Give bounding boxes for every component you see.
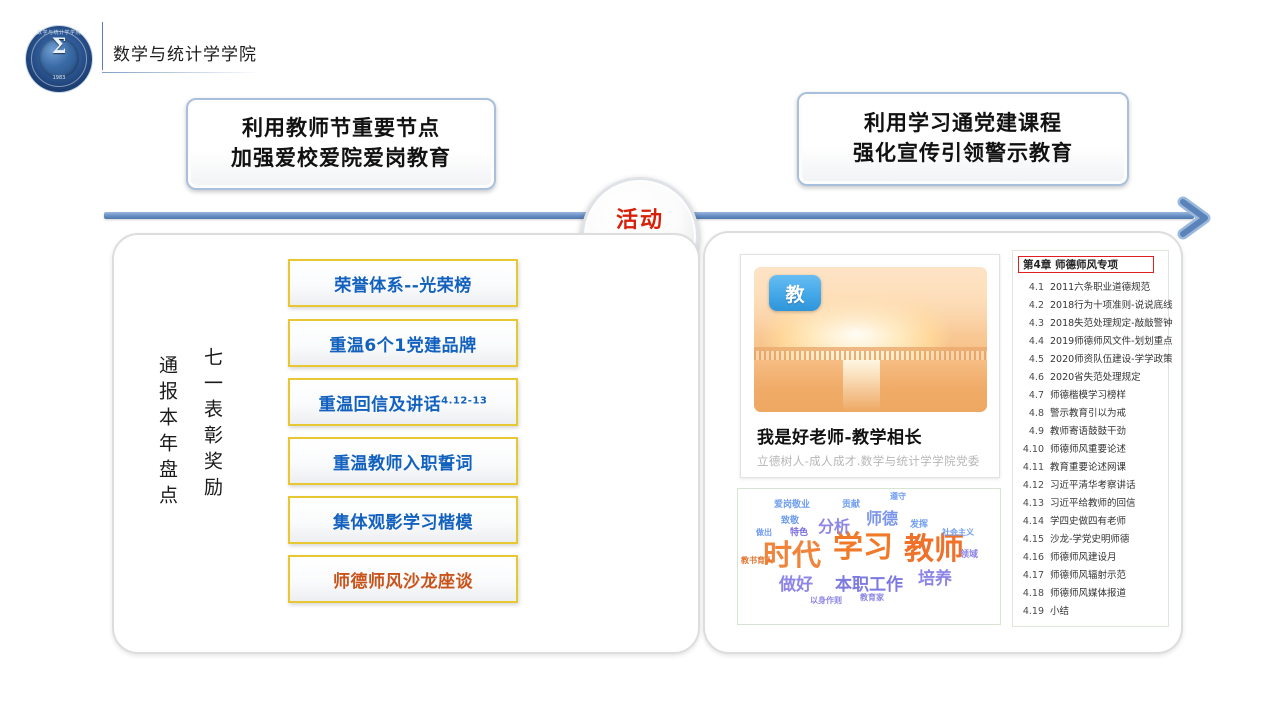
word-cloud-term: 特色 [790, 529, 808, 538]
left-item-box-3[interactable]: 重温回信及讲话4.12-13 [288, 378, 518, 426]
chapter-row-text: 2020师资队伍建设-学学政策 [1050, 351, 1173, 365]
chapter-row-number: 4.18 [1018, 588, 1044, 599]
chapter-row-number: 4.6 [1018, 372, 1044, 383]
chapter-row[interactable]: 4.17师德师风辐射示范 [1018, 567, 1164, 585]
chapter-row[interactable]: 4.62020省失范处理规定 [1018, 369, 1164, 387]
chapter-row-text: 小结 [1050, 603, 1069, 617]
left-item-label: 重温回信及讲话4.12-13 [319, 390, 488, 415]
word-cloud-term: 分析 [818, 519, 850, 535]
chapter-row-number: 4.2 [1018, 300, 1044, 311]
word-cloud-term: 培养 [918, 571, 952, 588]
word-cloud-term: 致敬 [781, 517, 799, 526]
chapter-row-number: 4.10 [1018, 444, 1044, 455]
header-underline [102, 72, 262, 73]
chapter-row-text: 学四史做四有老师 [1050, 513, 1126, 527]
word-cloud-term: 教育家 [860, 594, 884, 602]
chapter-row-text: 习近平清华考察讲话 [1050, 477, 1136, 491]
chapter-row[interactable]: 4.13习近平给教师的回信 [1018, 495, 1164, 513]
word-cloud-card: 学习教师时代本职工作做好培养师德分析爱岗敬业贡献遵守致敬发挥做出特色社会主义领域… [737, 488, 1001, 625]
chapter-row-number: 4.19 [1018, 606, 1044, 617]
left-item-box-6[interactable]: 师德师风沙龙座谈 [288, 555, 518, 603]
chapter-row[interactable]: 4.22018行为十项准则-说说底线 [1018, 297, 1164, 315]
word-cloud-term: 教师 [904, 535, 964, 565]
chapter-row[interactable]: 4.10师德师风重要论述 [1018, 441, 1164, 459]
slide-canvas: 数学与统计学学院 Σ 1983 数学与统计学学院 利用教师节重要节点 加强爱校爱… [0, 0, 1280, 720]
course-photo-card[interactable]: 教 我是好老师-教学相长 立德树人-成人成才.数学与统计学学院党委 [740, 254, 1000, 478]
photo-sun-glare [843, 360, 880, 412]
word-cloud-term: 做好 [779, 577, 813, 594]
topbox-teachers-day: 利用教师节重要节点 加强爱校爱院爱岗教育 [186, 98, 496, 190]
chapter-row[interactable]: 4.32018失范处理规定-敲敲警钟 [1018, 315, 1164, 333]
chapter-row[interactable]: 4.12011六条职业道德规范 [1018, 279, 1164, 297]
chapter-row-number: 4.1 [1018, 282, 1044, 293]
left-item-label: 荣誉体系--光荣榜 [334, 271, 472, 296]
chapter-row[interactable]: 4.14学四史做四有老师 [1018, 513, 1164, 531]
slide-header: 数学与统计学学院 Σ 1983 数学与统计学学院 [0, 0, 1280, 92]
chapter-row-text: 2018行为十项准则-说说底线 [1050, 297, 1173, 311]
vertical-caption-july-first-award: 七一表彰奖励 [202, 347, 221, 503]
chapter-row-number: 4.4 [1018, 336, 1044, 347]
header-divider [102, 22, 103, 70]
word-cloud-term: 发挥 [910, 521, 928, 530]
word-cloud-term: 社会主义 [942, 529, 974, 537]
logo-sigma-icon: Σ [26, 33, 92, 58]
chapter-row[interactable]: 4.52020师资队伍建设-学学政策 [1018, 351, 1164, 369]
chapter-row-text: 沙龙-学党史明师德 [1050, 531, 1129, 545]
word-cloud-term: 以身作则 [810, 597, 842, 605]
chapter-row-number: 4.12 [1018, 480, 1044, 491]
chapter-row[interactable]: 4.12习近平清华考察讲话 [1018, 477, 1164, 495]
course-subtitle: 立德树人-成人成才.数学与统计学学院党委 [757, 453, 980, 469]
left-item-box-1[interactable]: 荣誉体系--光荣榜 [288, 259, 518, 307]
chapter-row-text: 师德楷模学习榜样 [1050, 387, 1126, 401]
word-cloud-term: 爱岗敬业 [774, 501, 810, 510]
chapter-row[interactable]: 4.19小结 [1018, 603, 1164, 621]
chapter-row-number: 4.16 [1018, 552, 1044, 563]
chapter-row-text: 师德师风重要论述 [1050, 441, 1126, 455]
chapter-row-number: 4.17 [1018, 570, 1044, 581]
chapter-row-text: 2019师德师风文件-划划重点 [1050, 333, 1173, 347]
chapter-row-text: 师德师风辐射示范 [1050, 567, 1126, 581]
chapter-row-text: 师德师风建设月 [1050, 549, 1117, 563]
photo-bridge-piers [754, 351, 987, 360]
chapter-row-text: 师德师风媒体报道 [1050, 585, 1126, 599]
topbox-right-line2: 强化宣传引领警示教育 [853, 139, 1073, 169]
word-cloud-term: 学习 [833, 533, 893, 563]
chapter-row[interactable]: 4.8警示教育引以为戒 [1018, 405, 1164, 423]
chapter-row-text: 2018失范处理规定-敲敲警钟 [1050, 315, 1173, 329]
word-cloud-term: 本职工作 [835, 577, 903, 594]
topbox-party-course: 利用学习通党建课程 强化宣传引领警示教育 [797, 92, 1129, 186]
left-item-box-4[interactable]: 重温教师入职誓词 [288, 437, 518, 485]
chapter-row-text: 2020省失范处理规定 [1050, 369, 1141, 383]
word-cloud-term: 领域 [960, 551, 978, 560]
chapter-row-text: 习近平给教师的回信 [1050, 495, 1136, 509]
chapter-row-text: 教育重要论述网课 [1050, 459, 1126, 473]
chapter-heading-box: 第4章 师德师风专项 [1018, 256, 1154, 273]
logo-year: 1983 [26, 75, 92, 81]
chapter-row[interactable]: 4.9教师寄语鼓鼓干劲 [1018, 423, 1164, 441]
word-cloud-term: 遵守 [890, 493, 906, 501]
chapter-row[interactable]: 4.11教育重要论述网课 [1018, 459, 1164, 477]
chapter-row-text: 教师寄语鼓鼓干劲 [1050, 423, 1126, 437]
chapter-row[interactable]: 4.7师德楷模学习榜样 [1018, 387, 1164, 405]
left-item-box-5[interactable]: 集体观影学习楷模 [288, 496, 518, 544]
chapter-row-number: 4.9 [1018, 426, 1044, 437]
chapter-row[interactable]: 4.16师德师风建设月 [1018, 549, 1164, 567]
center-badge-line1: 活动 [616, 206, 664, 236]
topbox-right-line1: 利用学习通党建课程 [864, 109, 1062, 139]
chapter-row-number: 4.14 [1018, 516, 1044, 527]
chapter-row[interactable]: 4.42019师德师风文件-划划重点 [1018, 333, 1164, 351]
chapter-row-number: 4.5 [1018, 354, 1044, 365]
chapter-row-list: 4.12011六条职业道德规范4.22018行为十项准则-说说底线4.32018… [1018, 279, 1164, 621]
left-item-date-sup: 4.12-13 [441, 395, 487, 406]
chapter-heading-label: 第4章 师德师风专项 [1023, 257, 1118, 272]
course-tag-badge: 教 [769, 275, 821, 311]
word-cloud-term: 做出 [756, 529, 772, 537]
page-title: 数学与统计学学院 [113, 40, 257, 65]
chapter-row[interactable]: 4.15沙龙-学党史明师德 [1018, 531, 1164, 549]
topbox-left-line2: 加强爱校爱院爱岗教育 [231, 144, 451, 174]
chapter-row[interactable]: 4.18师德师风媒体报道 [1018, 585, 1164, 603]
college-logo-icon: 数学与统计学学院 Σ 1983 [26, 26, 92, 92]
chapter-row-number: 4.15 [1018, 534, 1044, 545]
course-tag-label: 教 [785, 280, 804, 307]
word-cloud-term: 贡献 [842, 501, 860, 510]
word-cloud-term: 师德 [866, 511, 898, 527]
left-item-label: 师德师风沙龙座谈 [333, 567, 473, 592]
vertical-caption-annual-report: 通报本年盘点 [157, 355, 176, 511]
topbox-left-line1: 利用教师节重要节点 [242, 114, 440, 144]
left-item-box-2[interactable]: 重温6个1党建品牌 [288, 319, 518, 367]
chapter-row-text: 警示教育引以为戒 [1050, 405, 1126, 419]
word-cloud-term: 教书育人 [741, 557, 773, 565]
chapter-row-text: 2011六条职业道德规范 [1050, 279, 1150, 293]
chapter-row-number: 4.11 [1018, 462, 1044, 473]
left-item-label: 集体观影学习楷模 [333, 508, 473, 533]
left-item-label: 重温教师入职誓词 [333, 449, 473, 474]
left-item-label: 重温6个1党建品牌 [329, 331, 476, 356]
chapter-outline-card[interactable]: 第4章 师德师风专项 4.12011六条职业道德规范4.22018行为十项准则-… [1012, 250, 1169, 627]
chapter-row-number: 4.7 [1018, 390, 1044, 401]
chapter-row-number: 4.3 [1018, 318, 1044, 329]
chapter-row-number: 4.8 [1018, 408, 1044, 419]
chapter-row-number: 4.13 [1018, 498, 1044, 509]
course-title: 我是好老师-教学相长 [757, 423, 922, 448]
